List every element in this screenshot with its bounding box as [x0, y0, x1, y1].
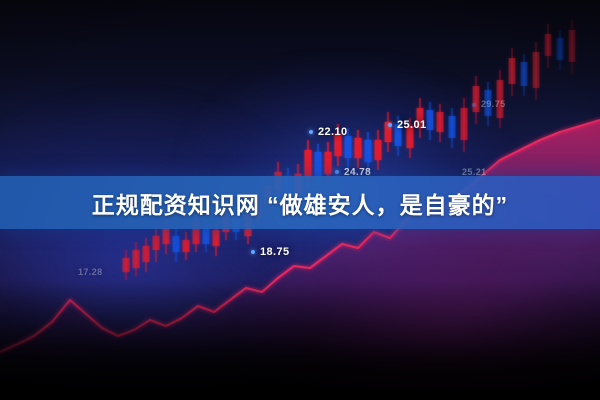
price-label: 18.75 [251, 246, 290, 258]
stock-chart-banner-image: 17.2822.1025.0124.7818.7525.2129.75 正规配资… [0, 0, 600, 400]
price-marker-dot [251, 250, 255, 254]
price-marker-dot [335, 170, 339, 174]
headline-text: 正规配资知识网 “做雄安人，是自豪的” [92, 186, 508, 220]
bottom-fade-overlay [0, 280, 600, 400]
price-label: 29.75 [472, 99, 506, 109]
price-label-value: 17.28 [78, 267, 103, 277]
price-label: 17.28 [78, 267, 103, 277]
price-marker-dot [388, 123, 392, 127]
price-label: 22.10 [309, 126, 348, 138]
price-label-value: 25.01 [397, 119, 427, 131]
price-label: 25.01 [388, 119, 427, 131]
price-marker-dot [472, 103, 476, 107]
headline-banner: 正规配资知识网 “做雄安人，是自豪的” [0, 176, 600, 229]
price-label-value: 18.75 [260, 246, 290, 258]
price-label-value: 29.75 [481, 99, 506, 109]
price-marker-dot [309, 130, 313, 134]
price-label-value: 22.10 [318, 126, 348, 138]
